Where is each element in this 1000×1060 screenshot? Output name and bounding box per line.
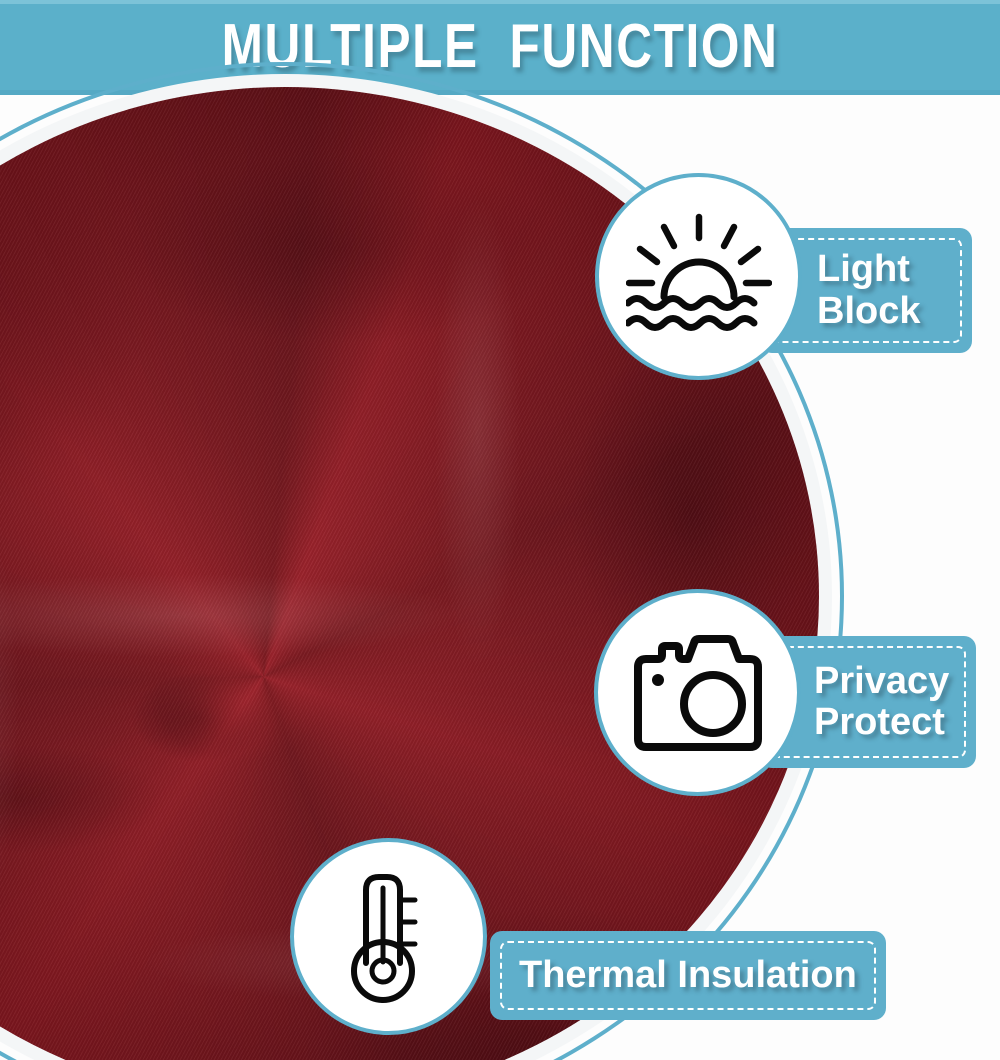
- feature-icon-circle[interactable]: [595, 173, 802, 380]
- feature-label-text: Thermal Insulation: [490, 955, 857, 996]
- header-banner: MULTIPLE FUNCTION: [0, 0, 1000, 95]
- page-title: MULTIPLE FUNCTION: [222, 16, 779, 78]
- thermometer-icon: [341, 866, 437, 1008]
- camera-indicator-dot: [652, 674, 664, 686]
- sunrise-over-water-icon: [626, 211, 772, 343]
- feature-label-box: Thermal Insulation: [490, 931, 886, 1020]
- camera-icon: [628, 635, 768, 751]
- infographic-canvas: MULTIPLE FUNCTION Light Block: [0, 0, 1000, 1060]
- feature-icon-circle[interactable]: [594, 589, 801, 796]
- feature-icon-circle[interactable]: [290, 838, 487, 1035]
